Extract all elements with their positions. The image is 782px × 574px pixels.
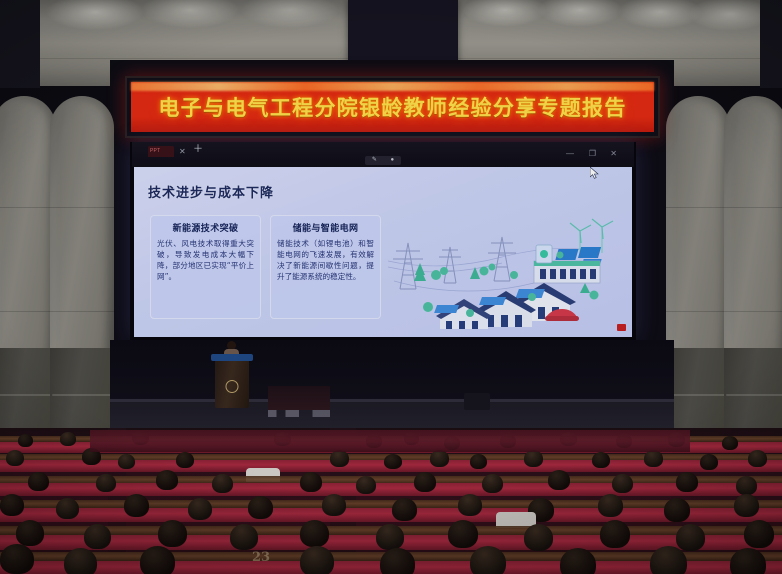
mouse-cursor [590,166,600,178]
slide-title: 技术进步与成本下降 [148,182,274,201]
led-banner-top-glow [131,82,654,91]
table-legs [268,410,330,417]
window-close-icon[interactable]: ✕ [610,150,617,158]
seat-row-number: 23 [252,550,270,565]
minimize-icon[interactable]: — [566,150,574,158]
wooden-podium [215,358,249,408]
card-title: 储能与智能电网 [277,221,374,234]
new-tab-icon[interactable]: ＋ [193,145,203,154]
presentation-slide: 技术进步与成本下降 新能源技术突破 光伏、风电技术取得重大突破，导致发电成本大幅… [134,167,632,337]
pen-icon[interactable]: ✎ [372,157,377,164]
slide-card-new-energy: 新能源技术突破 光伏、风电技术取得重大突破，导致发电成本大幅下降，部分地区已实现… [150,215,261,319]
seat-row [0,476,782,496]
wall-column-right-outer [724,96,782,466]
stage-front-panel [110,340,674,402]
stage-floor-monitor [464,393,490,410]
ceiling-dark-left [0,0,40,88]
card-body: 储能技术（如锂电池）和智能电网的飞速发展，有效解决了新能源间歇性问题，提升了能源… [277,238,374,282]
browser-tab-label: PPT [150,147,172,156]
podium-top [211,354,253,361]
front-row-rail [90,430,690,452]
banner-title-text: 电子与电气工程分院银龄教师经验分享专题报告 [131,92,654,122]
led-banner: 电子与电气工程分院银龄教师经验分享专题报告 [131,82,654,132]
card-title: 新能源技术突破 [157,221,254,234]
slide-card-storage-grid: 储能与智能电网 储能技术（如锂电池）和智能电网的飞速发展，有效解决了新能源间歇性… [270,215,381,319]
projection-screen: PPT ✕ ＋ — ❐ ✕ ✎ ● 技术进步与成本下降 新能源技术突破 光伏、风… [130,142,636,340]
smart-grid-renewable-energy-illustration [384,209,624,329]
presentation-toolbar[interactable]: ✎ ● [365,156,401,165]
card-body: 光伏、风电技术取得重大突破，导致发电成本大幅下降，部分地区已实现“平价上网”。 [157,238,254,282]
ceiling-dark-right [760,0,782,88]
laser-pointer-icon[interactable]: ● [391,157,395,164]
podium-emblem [226,380,239,393]
stage-table [268,386,330,410]
wall-column-left-outer [0,96,56,466]
browser-chrome: PPT ✕ ＋ — ❐ ✕ ✎ ● [132,142,634,167]
wall-column-right-inner [666,96,730,466]
wall-column-left-inner [50,96,114,466]
auditorium-scene: 电子与电气工程分院银龄教师经验分享专题报告 PPT ✕ ＋ — ❐ ✕ ✎ ● … [0,0,782,574]
led-banner-frame: 电子与电气工程分院银龄教师经验分享专题报告 [125,76,660,138]
slide-badge-icon [617,324,626,331]
maximize-icon[interactable]: ❐ [589,150,596,158]
close-icon[interactable]: ✕ [179,147,186,156]
